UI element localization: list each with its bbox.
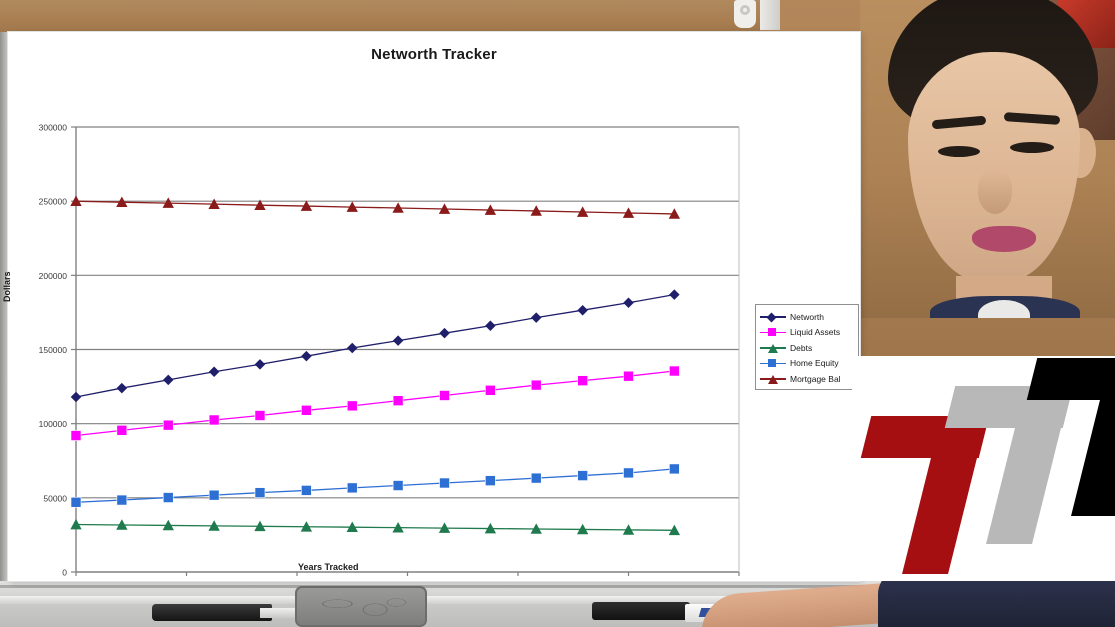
legend-item-label: Debts (790, 343, 812, 353)
svg-text:150000: 150000 (39, 345, 68, 355)
svg-text:50000: 50000 (43, 493, 67, 503)
legend-key-icon (760, 311, 786, 323)
svg-text:200000: 200000 (39, 271, 68, 281)
presenter-mouth (972, 226, 1036, 252)
legend-item-liquid-assets[interactable]: Liquid Assets (760, 325, 854, 341)
logo-letter-stem (1071, 388, 1115, 516)
presentation-slide[interactable]: Networth Tracker Dollars Years Tracked 0… (8, 32, 860, 581)
legend-item-networth[interactable]: Networth (760, 309, 854, 325)
svg-text:100000: 100000 (39, 419, 68, 429)
legend-key-icon (760, 342, 786, 354)
logo-letter-bar (1027, 358, 1115, 400)
svg-text:300000: 300000 (39, 123, 68, 133)
legend-item-mortgage-bal[interactable]: Mortgage Bal (760, 371, 854, 387)
legend-item-label: Liquid Assets (790, 327, 840, 337)
legend-key-icon (760, 373, 786, 385)
line-chart: 0500001000001500002000002500003000000.00… (8, 32, 860, 581)
ttt-logo (852, 356, 1115, 581)
presenter-eye-left (938, 146, 980, 157)
wall-post (760, 0, 780, 30)
marker-black (152, 604, 272, 621)
logo-letter-t-3 (1032, 358, 1115, 508)
chart-legend[interactable]: NetworthLiquid AssetsDebtsHome EquityMor… (755, 304, 859, 390)
legend-item-debts[interactable]: Debts (760, 340, 854, 356)
legend-item-label: Home Equity (790, 358, 839, 368)
chart-plot-area: Dollars Years Tracked 050000100000150000… (8, 32, 860, 581)
whiteboard-eraser (295, 586, 427, 627)
svg-text:0: 0 (62, 568, 67, 578)
screen: Networth Tracker Dollars Years Tracked 0… (0, 0, 1115, 627)
presenter-webcam (860, 0, 1115, 318)
legend-item-label: Mortgage Bal (790, 374, 841, 384)
legend-item-home-equity[interactable]: Home Equity (760, 356, 854, 372)
presenter-eye-right (1010, 142, 1054, 153)
wall-hook-eye-icon (740, 5, 750, 15)
legend-item-label: Networth (790, 312, 824, 322)
presenter-nose (978, 170, 1012, 214)
legend-key-icon (760, 326, 786, 338)
eraser-texture (302, 593, 420, 620)
marker-second (592, 602, 690, 620)
svg-text:250000: 250000 (39, 197, 68, 207)
legend-key-icon (760, 357, 786, 369)
